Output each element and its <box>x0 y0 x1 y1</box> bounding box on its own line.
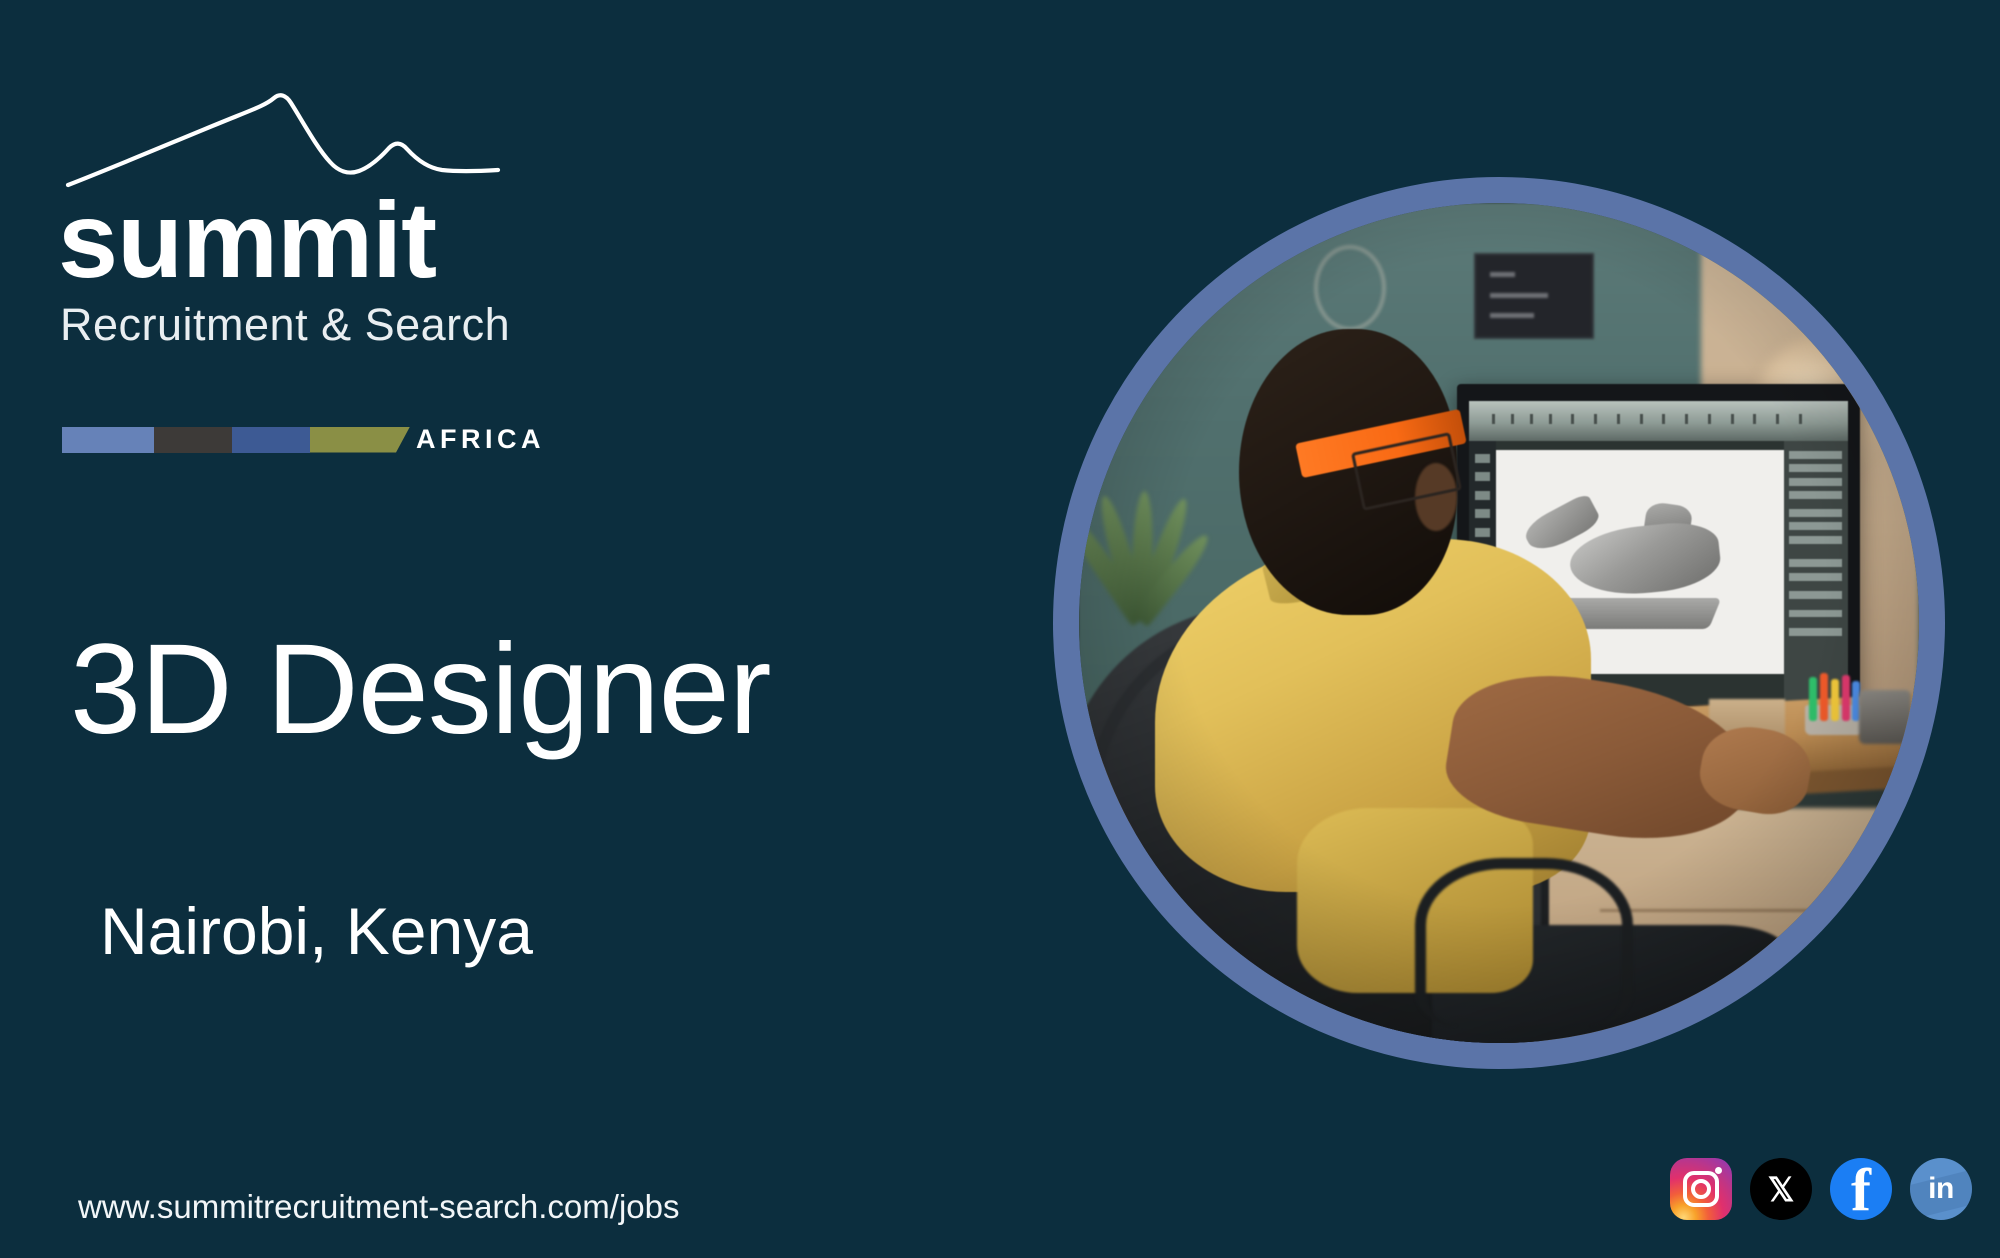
photo-circle-ring <box>1053 177 1945 1069</box>
x-glyph: 𝕏 <box>1750 1158 1812 1220</box>
job-location: Nairobi, Kenya <box>100 895 533 968</box>
jobs-website-url[interactable]: www.summitrecruitment-search.com/jobs <box>78 1188 679 1226</box>
photo-vignette <box>1079 203 1919 1043</box>
facebook-glyph: f <box>1830 1158 1892 1220</box>
brand-color-swatches <box>62 427 410 453</box>
job-advert-slide: summit Recruitment & Search AFRICA 3D De… <box>0 0 2000 1258</box>
brand-region-label: AFRICA <box>416 424 545 455</box>
brand-region-bar: AFRICA <box>62 424 545 455</box>
brand-logo: summit Recruitment & Search <box>62 86 532 351</box>
instagram-icon[interactable] <box>1670 1158 1732 1220</box>
swatch-periwinkle <box>62 427 154 453</box>
facebook-icon[interactable]: f <box>1830 1158 1892 1220</box>
job-title: 3D Designer <box>70 623 770 757</box>
instagram-lens <box>1691 1179 1711 1199</box>
instagram-flash-dot <box>1715 1167 1722 1174</box>
social-links: 𝕏 f in <box>1670 1158 1972 1220</box>
mountain-outline-icon <box>62 86 502 191</box>
swatch-blue <box>232 427 310 453</box>
swatch-olive <box>310 427 410 453</box>
brand-tagline: Recruitment & Search <box>60 299 532 351</box>
x-twitter-icon[interactable]: 𝕏 <box>1750 1158 1812 1220</box>
linkedin-glyph: in <box>1910 1158 1972 1220</box>
linkedin-icon[interactable]: in <box>1910 1158 1972 1220</box>
brand-wordmark: summit <box>58 187 532 293</box>
designer-workspace-photo <box>1079 203 1919 1043</box>
photo-scene <box>1079 203 1919 1043</box>
swatch-charcoal <box>154 427 232 453</box>
